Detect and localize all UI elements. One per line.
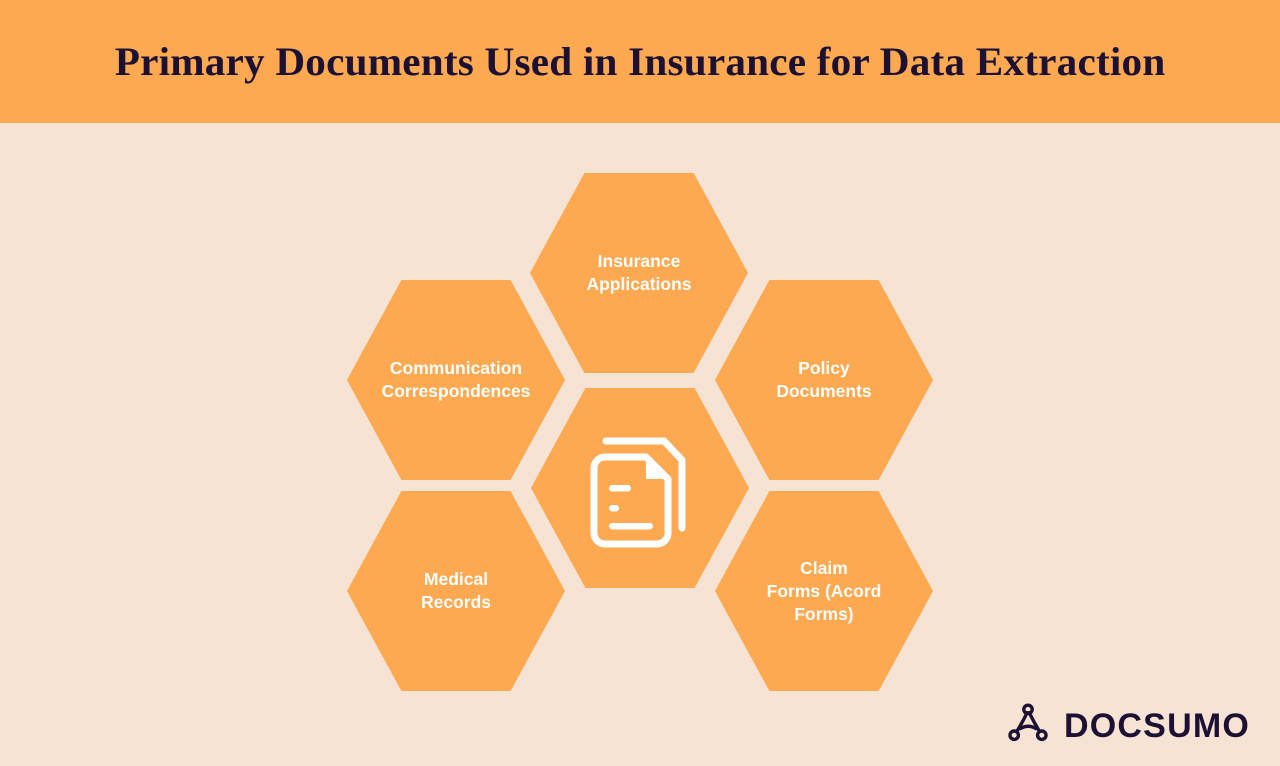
docsumo-triangle-node-icon: [1006, 701, 1050, 750]
hex-node-insurance-applications[interactable]: Insurance Applications: [530, 173, 748, 373]
hex-label-policy-documents: Policy Documents: [776, 357, 871, 403]
hex-label-communication-correspondences: Communication Correspondences: [382, 357, 531, 403]
hex-node-medical-records[interactable]: Medical Records: [347, 491, 565, 691]
hex-label-medical-records: Medical Records: [421, 568, 491, 614]
hex-node-center-documents: [531, 388, 749, 588]
hex-node-communication-correspondences[interactable]: Communication Correspondences: [347, 280, 565, 480]
header-bar: Primary Documents Used in Insurance for …: [0, 0, 1280, 123]
hexagon-diagram: Insurance Applications Communication Cor…: [0, 123, 1280, 766]
hex-node-policy-documents[interactable]: Policy Documents: [715, 280, 933, 480]
hex-node-claim-forms[interactable]: Claim Forms (Acord Forms): [715, 491, 933, 691]
hex-label-insurance-applications: Insurance Applications: [586, 250, 691, 296]
page-title: Primary Documents Used in Insurance for …: [115, 38, 1166, 85]
docsumo-wordmark: DOCSUMO: [1064, 709, 1250, 743]
docsumo-logo[interactable]: DOCSUMO: [1006, 701, 1250, 750]
hex-label-claim-forms: Claim Forms (Acord Forms): [767, 557, 882, 626]
documents-icon: [584, 427, 696, 549]
